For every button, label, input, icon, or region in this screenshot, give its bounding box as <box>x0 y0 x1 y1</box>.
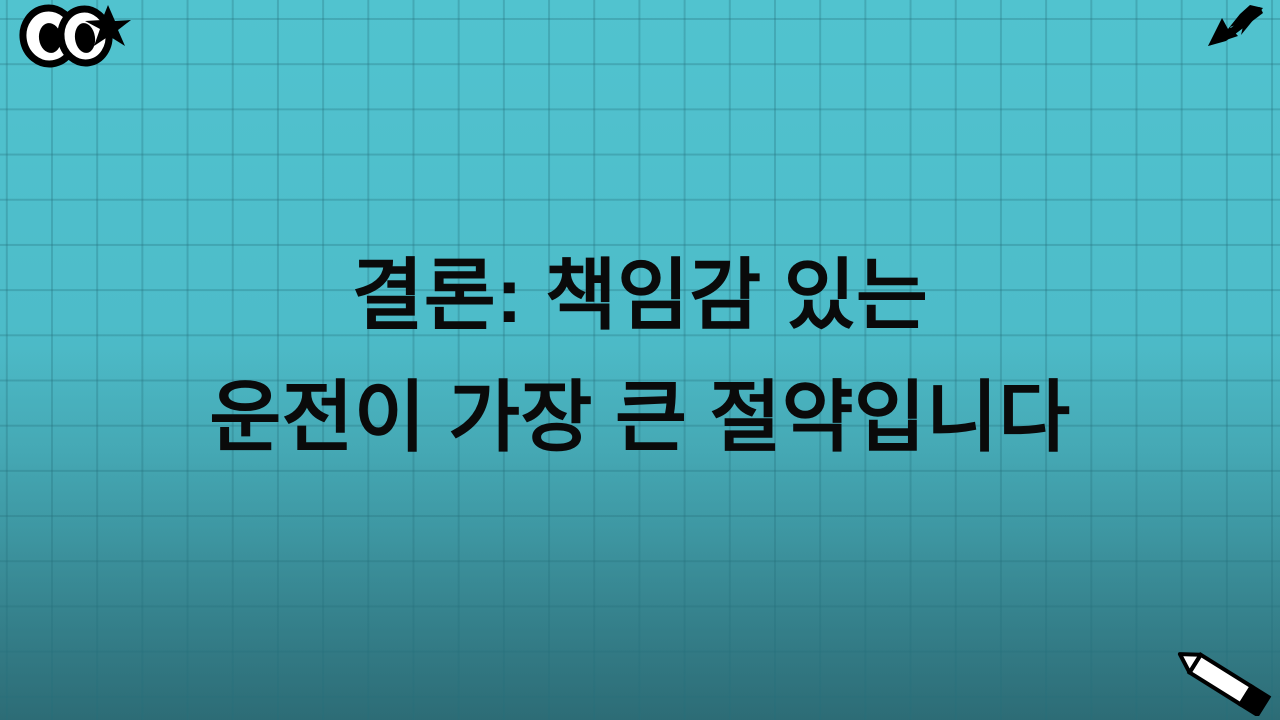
star-icon <box>82 2 132 48</box>
arrow-cursor-icon <box>1202 2 1266 54</box>
pencil-icon <box>1168 646 1276 716</box>
title-line-1: 결론: 책임감 있는 <box>0 234 1280 356</box>
title-line-2: 운전이 가장 큰 절약입니다 <box>0 356 1280 478</box>
slide-canvas: 결론: 책임감 있는 운전이 가장 큰 절약입니다 <box>0 0 1280 720</box>
slide-title: 결론: 책임감 있는 운전이 가장 큰 절약입니다 <box>0 234 1280 478</box>
